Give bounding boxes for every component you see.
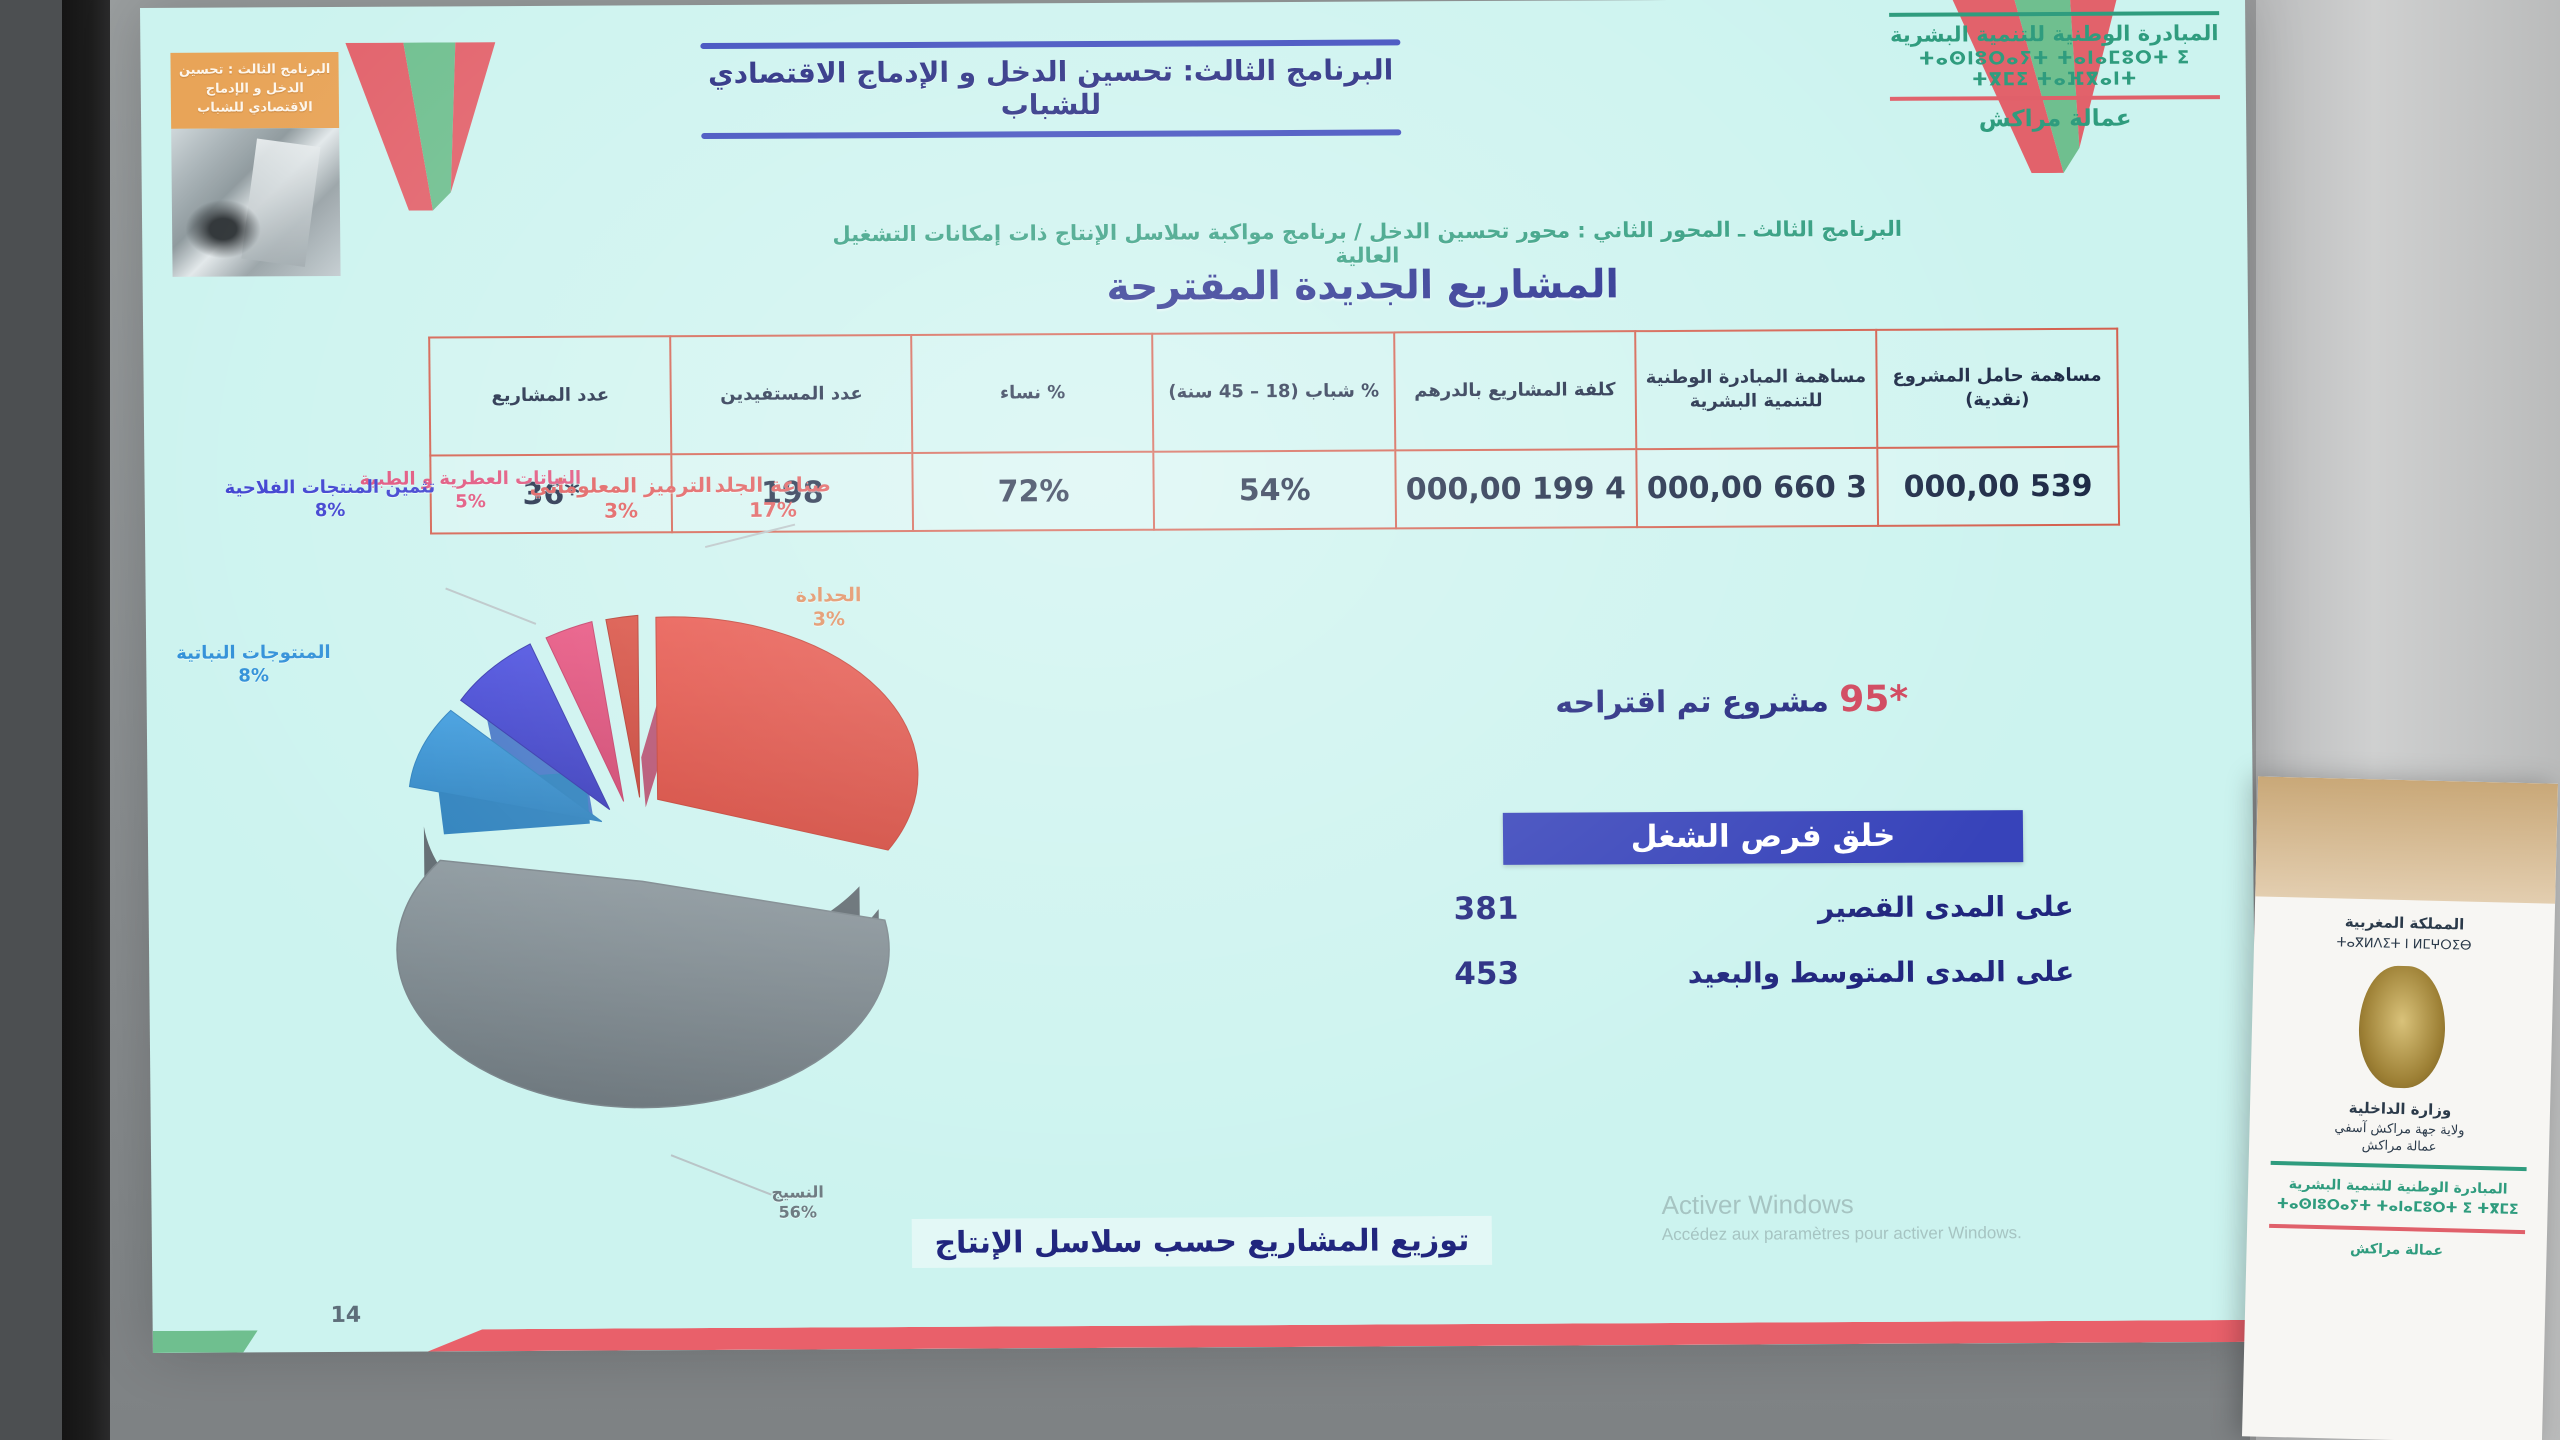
poster-red-rule bbox=[2269, 1224, 2525, 1234]
slide-subtitle: البرنامج الثالث ـ المحور الثاني : محور ت… bbox=[832, 217, 1902, 271]
table-header-cell: % شباب (18 – 45 سنة) bbox=[1153, 332, 1395, 451]
jobs-label: على المدى القصير bbox=[1818, 889, 2074, 923]
page-title: البرنامج الثالث: تحسين الدخل و الإدماج ا… bbox=[700, 45, 1401, 125]
jobs-row-short-term: على المدى القصير 381 bbox=[1454, 888, 2074, 927]
jobs-creation-title: خلق فرص الشغل bbox=[1503, 810, 2023, 865]
table-header-cell: عدد المستفيدين bbox=[670, 335, 912, 454]
table-header-row: مساهمة حامل المشروع (نقدية) مساهمة المبا… bbox=[429, 329, 2118, 456]
table-header-cell: مساهمة حامل المشروع (نقدية) bbox=[1876, 329, 2118, 448]
leader-line-agri bbox=[446, 588, 536, 624]
morocco-emblem-icon bbox=[2358, 964, 2447, 1088]
pie-label-plant-products: المنتوجات النباتية 8% bbox=[176, 642, 331, 688]
poster-top-band bbox=[2255, 776, 2558, 903]
screen-photo: البرنامج الثالث : تحسين الدخل و الإدماج … bbox=[0, 0, 2560, 1440]
pie-label-leather: صناعة الجلد 17% bbox=[714, 472, 831, 523]
pie-label-blacksmithing: الحدادة 3% bbox=[796, 584, 862, 632]
logo-rule-top bbox=[1889, 11, 2219, 17]
program-side-photo bbox=[171, 127, 340, 276]
watermark-subtitle: Accédez aux paramètres pour activer Wind… bbox=[1662, 1223, 2022, 1245]
poster-prefecture-line-2: عمالة مراكش bbox=[2246, 1237, 2546, 1264]
wall-left-dark bbox=[0, 0, 62, 1440]
leader-line-textile bbox=[671, 1155, 771, 1196]
pie-slice-leather bbox=[656, 616, 919, 852]
chevron-left-decoration bbox=[345, 42, 497, 211]
table-cell: 3 660 000,00 bbox=[1636, 448, 1878, 527]
table-header-cell: كلفة المشاريع بالدرهم bbox=[1394, 331, 1636, 450]
jobs-row-medium-long-term: على المدى المتوسط والبعيد 453 bbox=[1454, 953, 2074, 992]
projected-slide: البرنامج الثالث : تحسين الدخل و الإدماج … bbox=[140, 0, 2258, 1353]
program-side-badge-label: البرنامج الثالث : تحسين الدخل و الإدماج … bbox=[170, 52, 339, 128]
section-heading: المشاريع الجديدة المقترحة bbox=[998, 262, 1728, 311]
pie-label-agri-valorization: تثمين المنتجات الفلاحية 8% bbox=[225, 476, 436, 522]
indh-logo-block: المبادرة الوطنية للتنمية البشرية ⵜⴰⵙⵏⵓⵔⴰ… bbox=[1889, 11, 2220, 133]
table-cell: 4 199 000,00 bbox=[1395, 449, 1637, 528]
table-cell: 539 000,00 bbox=[1877, 447, 2119, 526]
logo-tifinagh-name: ⵜⴰⵙⵏⵓⵔⴰⵢⵜ ⵜⴰⵏⴰⵎⵓⵔⵜ ⵉ ⵜⴳⵎⵉ ⵜⴰⴼⴳⴰⵏⵜ bbox=[1889, 47, 2219, 91]
wall-poster: المملكة المغربية ⵜⴰⴳⵍⴷⵉⵜ ⵏ ⵍⵎⵖⵔⵉⴱ وزارة … bbox=[2242, 776, 2558, 1440]
slide-title-block: البرنامج الثالث: تحسين الدخل و الإدماج ا… bbox=[700, 39, 1401, 139]
logo-prefecture: عمالة مراكش bbox=[1890, 105, 2220, 133]
jobs-value: 453 bbox=[1454, 956, 1519, 992]
slide-number: 14 bbox=[330, 1303, 361, 1328]
watermark-title: Activer Windows bbox=[1661, 1188, 2021, 1221]
logo-arabic-name: المبادرة الوطنية للتنمية البشرية bbox=[1889, 21, 2219, 47]
proposed-star: * bbox=[1889, 679, 1908, 720]
title-rule-bottom bbox=[701, 129, 1401, 139]
table-header-cell: عدد المشاريع bbox=[429, 336, 671, 455]
proposed-projects-line: *95 مشروع تم اقتراحه bbox=[1412, 678, 2052, 722]
pie-label-textile: النسيج 56% bbox=[771, 1182, 824, 1222]
pie-slice-textile bbox=[396, 858, 890, 1109]
table-cell: 54% bbox=[1154, 450, 1396, 529]
table-header-cell: % نساء bbox=[911, 334, 1153, 453]
footer-red-bar bbox=[428, 1320, 2258, 1352]
jobs-label: على المدى المتوسط والبعيد bbox=[1688, 954, 2075, 989]
proposed-count: 95 bbox=[1839, 679, 1890, 720]
slide-footer-bars bbox=[153, 1316, 2258, 1353]
logo-rule-bottom bbox=[1890, 95, 2220, 101]
leader-line-leather bbox=[705, 525, 795, 547]
production-chains-pie-chart: صناعة الجلد 17% الترميز المعلوماتي 3% ال… bbox=[235, 493, 1072, 1257]
wall-black-strip bbox=[62, 0, 110, 1440]
chart-caption: توزيع المشاريع حسب سلاسل الإنتاج bbox=[912, 1216, 1492, 1268]
jobs-value: 381 bbox=[1454, 891, 1519, 927]
footer-green-bar bbox=[153, 1330, 258, 1353]
program-side-badge: البرنامج الثالث : تحسين الدخل و الإدماج … bbox=[170, 52, 340, 276]
poster-green-rule bbox=[2271, 1161, 2527, 1171]
pie-svg bbox=[235, 493, 1072, 1257]
activate-windows-watermark: Activer Windows Accédez aux paramètres p… bbox=[1661, 1188, 2022, 1245]
proposed-text: مشروع تم اقتراحه bbox=[1555, 684, 1829, 720]
table-header-cell: مساهمة المبادرة الوطنية للتنمية البشرية bbox=[1635, 330, 1877, 449]
